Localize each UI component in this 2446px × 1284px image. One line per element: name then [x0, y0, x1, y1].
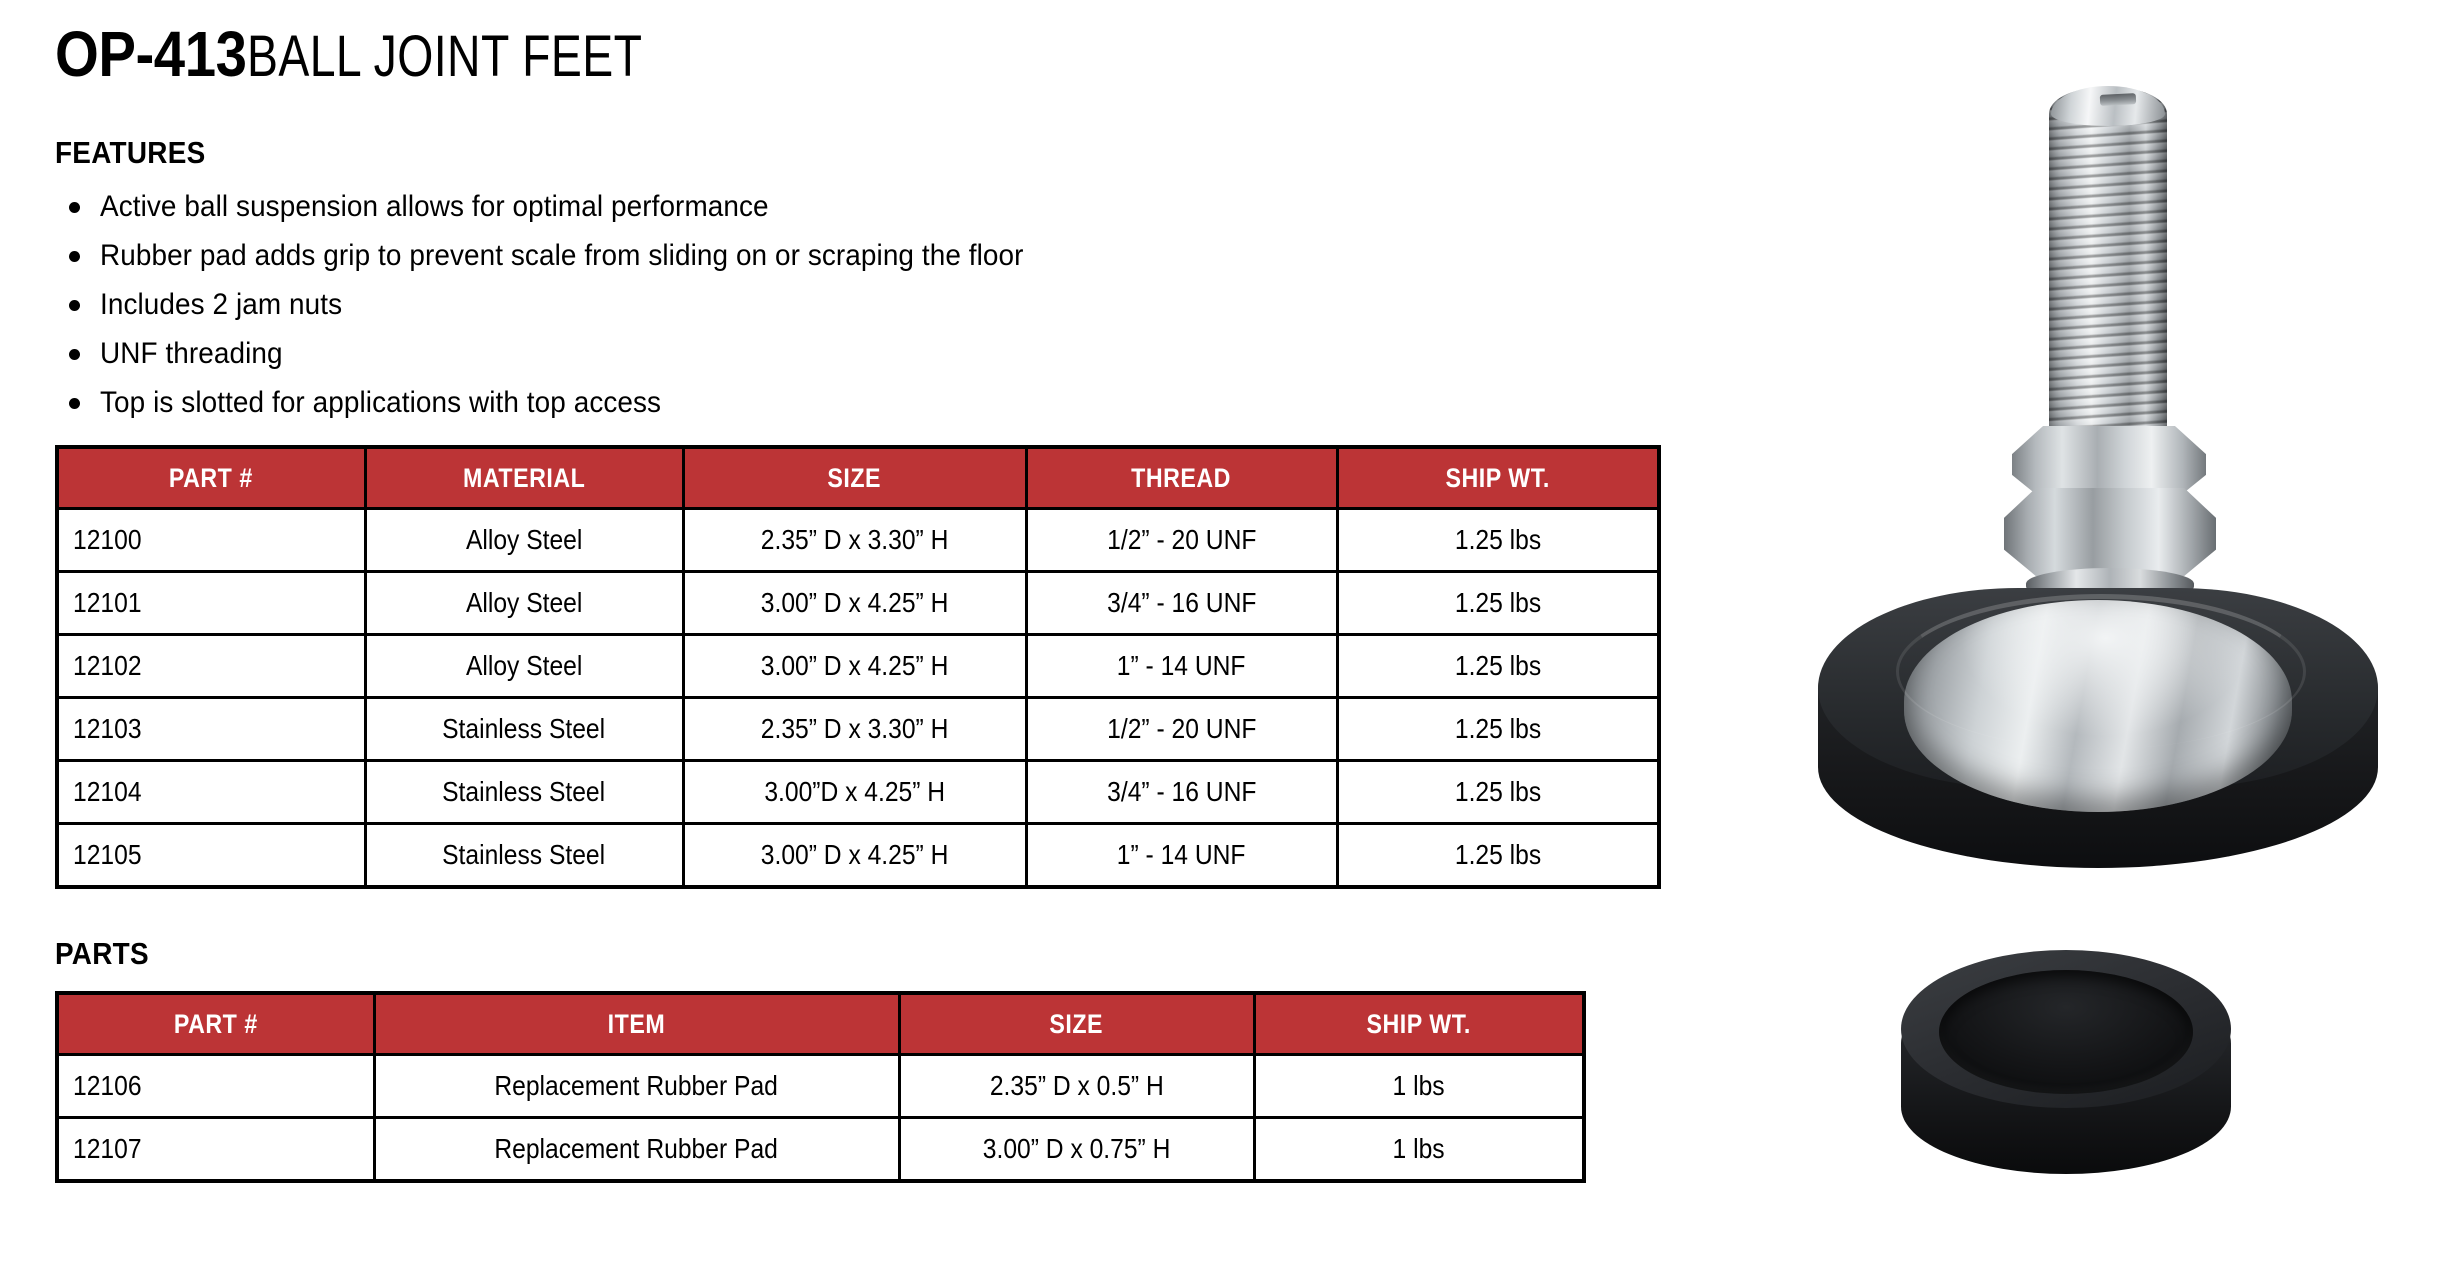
- polished-metal-dome: [1904, 600, 2292, 812]
- cell-thread: 3/4” - 16 UNF: [1026, 572, 1337, 635]
- cell-size: 2.35” D x 3.30” H: [683, 698, 1026, 761]
- cell-size: 3.00” D x 0.75” H: [899, 1118, 1254, 1182]
- table-row: 12100 Alloy Steel 2.35” D x 3.30” H 1/2”…: [57, 509, 1659, 572]
- list-item: Rubber pad adds grip to prevent scale fr…: [55, 231, 1755, 280]
- part-code: OP-413: [55, 22, 246, 86]
- cell-size: 2.35” D x 3.30” H: [683, 509, 1026, 572]
- cell-thread: 3/4” - 16 UNF: [1026, 761, 1337, 824]
- cell-thread: 1/2” - 20 UNF: [1026, 509, 1337, 572]
- table-header-row: PART # MATERIAL SIZE THREAD SHIP WT.: [57, 447, 1659, 509]
- cell-part-number: 12105: [57, 824, 365, 888]
- cell-part-number: 12106: [57, 1055, 374, 1118]
- cell-material: Stainless Steel: [365, 824, 683, 888]
- page-title: OP-413 BALL JOINT FEET: [55, 22, 1755, 100]
- features-heading: FEATURES: [55, 136, 1585, 170]
- column-header-size: SIZE: [899, 993, 1254, 1055]
- list-item: Active ball suspension allows for optima…: [55, 182, 1755, 231]
- cell-thread: 1/2” - 20 UNF: [1026, 698, 1337, 761]
- cell-ship-weight: 1.25 lbs: [1337, 509, 1659, 572]
- cell-item: Replacement Rubber Pad: [374, 1118, 899, 1182]
- bullet-icon: [69, 398, 80, 409]
- cell-part-number: 12103: [57, 698, 365, 761]
- feature-text: Rubber pad adds grip to prevent scale fr…: [100, 231, 1024, 280]
- list-item: Top is slotted for applications with top…: [55, 378, 1755, 427]
- dome-rim-highlight: [1896, 594, 2306, 749]
- features-list: Active ball suspension allows for optima…: [55, 182, 1755, 427]
- table-header-row: PART # ITEM SIZE SHIP WT.: [57, 993, 1584, 1055]
- cell-part-number: 12100: [57, 509, 365, 572]
- cell-part-number: 12102: [57, 635, 365, 698]
- bullet-icon: [69, 349, 80, 360]
- table-row: 12106 Replacement Rubber Pad 2.35” D x 0…: [57, 1055, 1584, 1118]
- column-header-part-number: PART #: [57, 993, 374, 1055]
- cell-thread: 1” - 14 UNF: [1026, 824, 1337, 888]
- replacement-rubber-pad-image: [1901, 950, 2231, 1190]
- table-row: 12105 Stainless Steel 3.00” D x 4.25” H …: [57, 824, 1659, 888]
- table-row: 12102 Alloy Steel 3.00” D x 4.25” H 1” -…: [57, 635, 1659, 698]
- cell-ship-weight: 1 lbs: [1254, 1118, 1584, 1182]
- bullet-icon: [69, 251, 80, 262]
- cell-ship-weight: 1.25 lbs: [1337, 761, 1659, 824]
- feature-text: Top is slotted for applications with top…: [100, 378, 661, 427]
- parts-heading: PARTS: [55, 937, 1585, 971]
- cell-material: Alloy Steel: [365, 572, 683, 635]
- list-item: Includes 2 jam nuts: [55, 280, 1755, 329]
- stud-top-cap: [2051, 86, 2165, 126]
- table-row: 12101 Alloy Steel 3.00” D x 4.25” H 3/4”…: [57, 572, 1659, 635]
- table-row: 12104 Stainless Steel 3.00”D x 4.25” H 3…: [57, 761, 1659, 824]
- jam-nut-lower: [2004, 488, 2216, 576]
- cell-ship-weight: 1.25 lbs: [1337, 635, 1659, 698]
- product-name: BALL JOINT FEET: [247, 28, 642, 86]
- feature-text: Active ball suspension allows for optima…: [100, 182, 769, 231]
- cell-size: 3.00” D x 4.25” H: [683, 824, 1026, 888]
- cell-size: 3.00”D x 4.25” H: [683, 761, 1026, 824]
- rubber-pad-body: [1901, 976, 2231, 1174]
- cell-ship-weight: 1.25 lbs: [1337, 824, 1659, 888]
- cell-size: 3.00” D x 4.25” H: [683, 635, 1026, 698]
- parts-table: PART # ITEM SIZE SHIP WT. 12106 Replacem…: [55, 991, 1586, 1183]
- rubber-pad-cavity: [1939, 970, 2193, 1094]
- spec-sheet-content: OP-413 BALL JOINT FEET FEATURES Active b…: [55, 22, 1755, 1183]
- cell-size: 2.35” D x 0.5” H: [899, 1055, 1254, 1118]
- rubber-pad-top: [1901, 950, 2231, 1108]
- feature-text: Includes 2 jam nuts: [100, 280, 342, 329]
- cell-material: Stainless Steel: [365, 761, 683, 824]
- column-header-ship-weight: SHIP WT.: [1254, 993, 1584, 1055]
- jam-nut-upper: [2012, 426, 2206, 500]
- column-header-ship-weight: SHIP WT.: [1337, 447, 1659, 509]
- cell-material: Stainless Steel: [365, 698, 683, 761]
- column-header-item: ITEM: [374, 993, 899, 1055]
- cell-material: Alloy Steel: [365, 509, 683, 572]
- cell-item: Replacement Rubber Pad: [374, 1055, 899, 1118]
- cell-part-number: 12101: [57, 572, 365, 635]
- threaded-stud: [2049, 88, 2167, 438]
- rubber-pad-base: [1818, 588, 2378, 868]
- cell-ship-weight: 1 lbs: [1254, 1055, 1584, 1118]
- cell-material: Alloy Steel: [365, 635, 683, 698]
- bullet-icon: [69, 300, 80, 311]
- product-image-panel: [1746, 0, 2446, 1284]
- cell-part-number: 12107: [57, 1118, 374, 1182]
- specification-table: PART # MATERIAL SIZE THREAD SHIP WT. 121…: [55, 445, 1661, 889]
- column-header-size: SIZE: [683, 447, 1026, 509]
- table-row: 12103 Stainless Steel 2.35” D x 3.30” H …: [57, 698, 1659, 761]
- list-item: UNF threading: [55, 329, 1755, 378]
- column-header-part-number: PART #: [57, 447, 365, 509]
- bullet-icon: [69, 202, 80, 213]
- cell-ship-weight: 1.25 lbs: [1337, 698, 1659, 761]
- table-row: 12107 Replacement Rubber Pad 3.00” D x 0…: [57, 1118, 1584, 1182]
- feature-text: UNF threading: [100, 329, 283, 378]
- ball-joint-foot-image: [1818, 88, 2378, 878]
- cell-ship-weight: 1.25 lbs: [1337, 572, 1659, 635]
- ball-joint-washer: [2026, 568, 2194, 602]
- cell-part-number: 12104: [57, 761, 365, 824]
- column-header-material: MATERIAL: [365, 447, 683, 509]
- cell-size: 3.00” D x 4.25” H: [683, 572, 1026, 635]
- column-header-thread: THREAD: [1026, 447, 1337, 509]
- stud-slot-icon: [2100, 93, 2137, 106]
- cell-thread: 1” - 14 UNF: [1026, 635, 1337, 698]
